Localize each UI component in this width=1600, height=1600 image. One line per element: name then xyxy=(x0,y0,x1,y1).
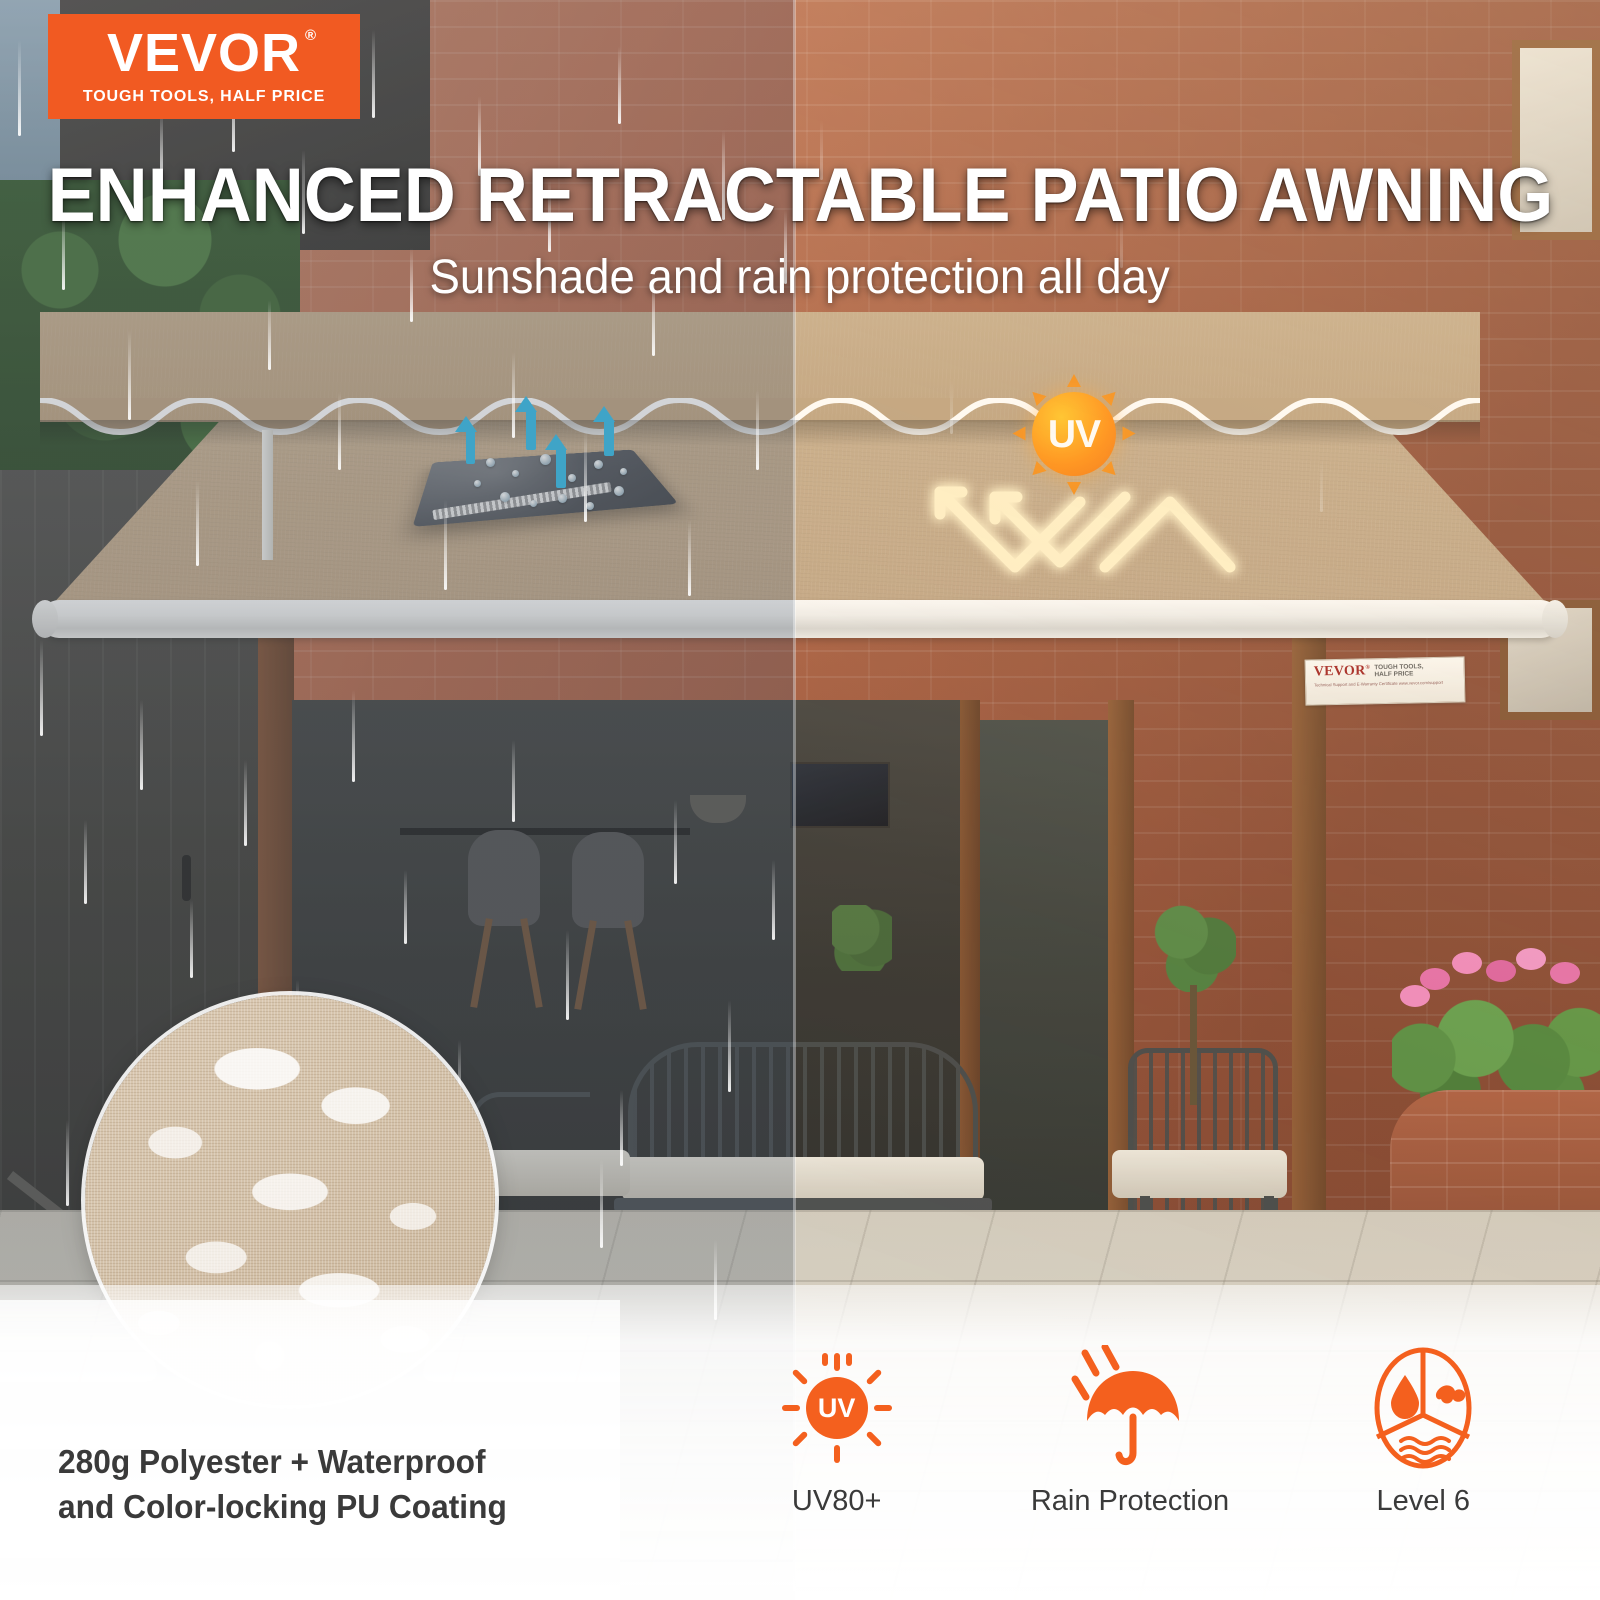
feature-label-uv80: UV80+ xyxy=(707,1485,967,1518)
flower xyxy=(1486,960,1516,982)
label-fine-print: Technical Support and E-Warranty Certifi… xyxy=(1314,679,1458,687)
uv-sun-icon: UV xyxy=(782,1353,892,1463)
awning-scalloped-edge xyxy=(40,398,1480,444)
left-chair-cushion xyxy=(480,1150,630,1196)
spec-description: 280g Polyester + Waterproof and Color-lo… xyxy=(58,1440,618,1529)
awning-product-label: VEVOR® TOUGH TOOLS, HALF PRICE Technical… xyxy=(1305,656,1466,705)
uv-sun-core: UV xyxy=(806,1377,868,1439)
brick-planter xyxy=(1390,1090,1600,1225)
vevor-logo: VEVOR® TOUGH TOOLS, HALF PRICE xyxy=(48,14,360,119)
page-subtitle: Sunshade and rain protection all day xyxy=(0,250,1600,305)
uv-badge-core: UV xyxy=(1032,392,1116,476)
weather-resistance-level-icon xyxy=(1367,1345,1479,1471)
feature-list: UV UV80+ Rain Protection xyxy=(690,1345,1570,1565)
fabric-closeup-circle-icon xyxy=(85,995,495,1405)
uv-sun-badge-icon: UV xyxy=(1018,378,1130,490)
label-brand-name: VEVOR® xyxy=(1314,663,1371,680)
page-title: ENHANCED RETRACTABLE PATIO AWNING xyxy=(0,152,1600,239)
feature-label-rain: Rain Protection xyxy=(1000,1485,1260,1518)
right-chair-cushion xyxy=(1112,1150,1287,1198)
flower xyxy=(1516,948,1546,970)
product-marketing-image: UV VEVOR® TOUGH TOOLS, HALF PRICE Techni… xyxy=(0,0,1600,1600)
flower xyxy=(1400,985,1430,1007)
registered-mark-icon: ® xyxy=(305,28,317,43)
gate-handle xyxy=(182,855,191,901)
bar-chair xyxy=(572,832,644,928)
water-repellent-fabric-swatch-icon xyxy=(408,408,678,573)
wall-tv xyxy=(790,762,890,828)
interior-doorway xyxy=(972,720,1112,1260)
registered-mark-icon: ® xyxy=(1365,665,1370,671)
flower xyxy=(1452,952,1482,974)
label-tagline: TOUGH TOOLS, HALF PRICE xyxy=(1374,663,1424,679)
umbrella-rain-icon xyxy=(1071,1345,1189,1471)
uv-badge-label: UV xyxy=(1048,415,1100,454)
awning-roller-bar xyxy=(40,600,1560,638)
downpipe xyxy=(262,430,273,560)
garden-bench-back xyxy=(628,1042,978,1162)
logo-wordmark: VEVOR® xyxy=(107,26,301,80)
flower xyxy=(1550,962,1580,984)
wall-shelf xyxy=(400,828,690,835)
spec-line-1: 280g Polyester + Waterproof xyxy=(58,1440,596,1485)
topiary-stem xyxy=(1190,985,1197,1105)
topiary-plant xyxy=(832,905,892,971)
feature-level6: Level 6 xyxy=(1293,1345,1553,1518)
logo-tagline: TOUGH TOOLS, HALF PRICE xyxy=(48,88,360,106)
bench-cushion xyxy=(622,1157,984,1201)
feature-label-level6: Level 6 xyxy=(1293,1485,1553,1518)
feature-rain-protection: Rain Protection xyxy=(1000,1345,1260,1518)
uv-sun-label: UV xyxy=(818,1395,856,1422)
feature-uv80: UV UV80+ xyxy=(707,1345,967,1518)
bar-chair xyxy=(468,830,540,926)
spec-line-2: and Color-locking PU Coating xyxy=(58,1485,596,1530)
topiary-plant xyxy=(1152,900,1236,992)
